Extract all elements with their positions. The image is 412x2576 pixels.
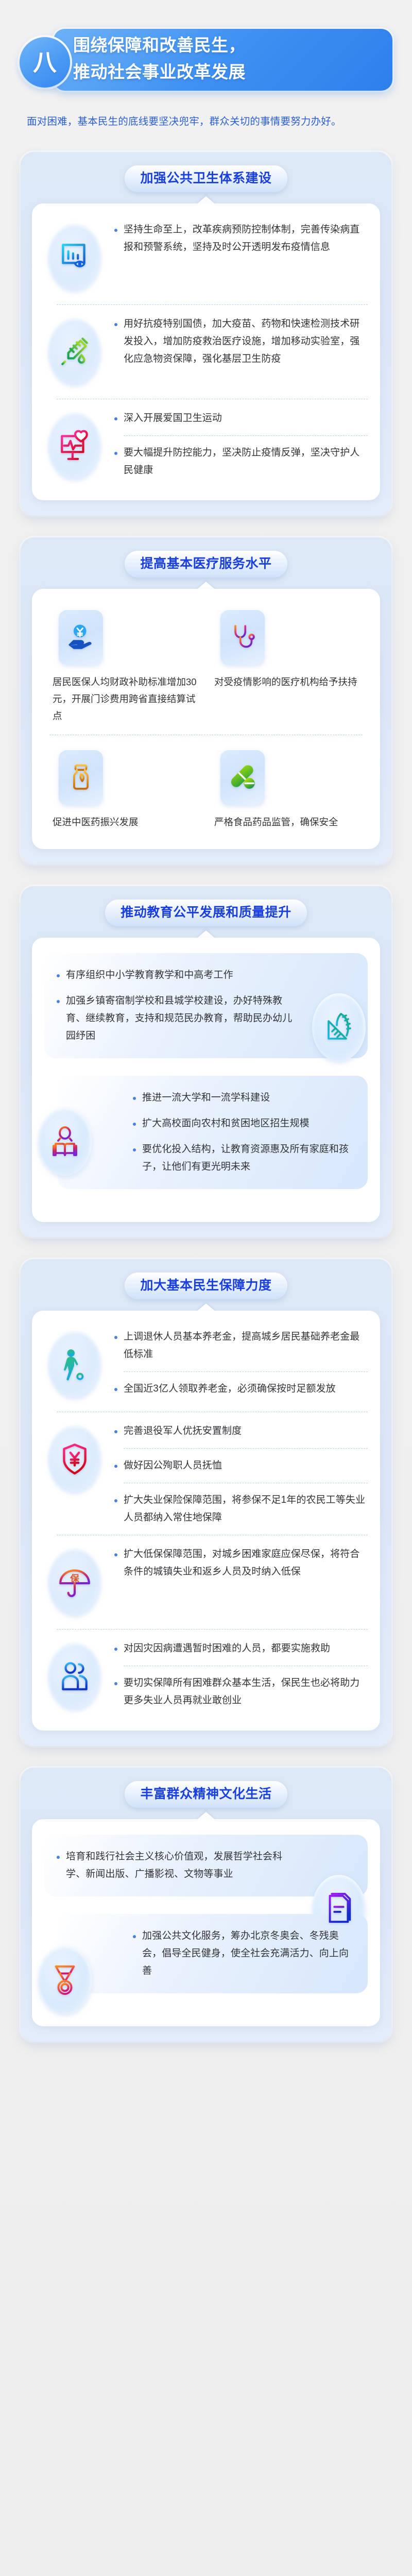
list-item: 对因灾因病遭遇暂时困难的人员，都要实施救助 要切实保障所有困难群众基本生活，保民… <box>44 1638 368 1715</box>
section-public-health: 加强公共卫生体系建设 <box>21 152 391 516</box>
dashed-divider <box>57 1629 368 1630</box>
bullet-text: 要切实保障所有困难群众基本生活，保民生也必将助力更多失业人员再就业敢创业 <box>111 1674 368 1709</box>
dashed-divider <box>124 435 368 436</box>
list-item: 坚持生命至上，改革疾病预防控制体制，完善传染病直报和预警系统，坚持及时公开透明发… <box>44 219 368 296</box>
education-panel: 有序组织中小学教育教学和中高考工作 加强乡镇寄宿制学校和县城学校建设，办好特殊教… <box>44 953 368 1058</box>
grid-cell: 严格食品药品监管，确保安全 <box>206 744 368 834</box>
graduate-book-icon <box>38 1108 92 1176</box>
bullet-text: 有序组织中小学教育教学和中高考工作 <box>54 967 301 984</box>
section-body-livelihood: 上调退休人员基本养老金，提高城乡居民基础养老金最低标准 全国近3亿人领取养老金，… <box>32 1311 380 1731</box>
syringe-vaccine-icon <box>44 313 105 391</box>
monitor-chart-eye-icon <box>44 219 105 296</box>
section-title-livelihood: 加大基本民生保障力度 <box>125 1273 287 1299</box>
dashed-divider <box>57 399 368 399</box>
dashed-divider <box>49 735 363 735</box>
bullet-text: 对因灾因病遭遇暂时困难的人员，都要实施救助 <box>111 1640 368 1657</box>
bullet-text: 推进一流大学和一流学科建设 <box>130 1089 354 1107</box>
grid-cell-text: 严格食品药品监管，确保安全 <box>211 814 338 831</box>
section-title-public-health: 加强公共卫生体系建设 <box>125 165 287 192</box>
medal-icon <box>38 1946 92 2014</box>
page-title: 围绕保障和改善民生， 推动社会事业改革发展 <box>73 32 382 86</box>
bullet-text: 要大幅提升防控能力，坚决防止疫情反弹，坚决守护人民健康 <box>111 444 368 479</box>
list-item: 用好抗疫特别国债，加大疫苗、药物和快速检测技术研发投入，增加防疫救治医疗设施，增… <box>44 313 368 391</box>
list-item: 完善退役军人优抚安置制度 做好因公殉职人员抚恤 扩大失业保险保障范围，将参保不足… <box>44 1420 368 1527</box>
culture-panel: 培育和践行社会主义核心价值观，发展哲学社会科学、新闻出版、广播影视、文物等事业 <box>44 1835 368 1896</box>
section-education: 推动教育公平发展和质量提升 有序组织中小学教育教学和中高考工作 加强乡镇寄宿制学… <box>21 886 391 1238</box>
page-title-line1: 围绕保障和改善民生， <box>73 32 382 59</box>
page-title-line2: 推动社会事业改革发展 <box>73 59 382 86</box>
grid-cell-text: 促进中医药振兴发展 <box>49 814 139 831</box>
bullet-text: 坚持生命至上，改革疾病预防控制体制，完善传染病直报和预警系统，坚持及时公开透明发… <box>111 221 368 256</box>
section-body-education: 有序组织中小学教育教学和中高考工作 加强乡镇寄宿制学校和县城学校建设，办好特殊教… <box>32 938 380 1222</box>
ruler-set-square-icon <box>312 993 366 1061</box>
hand-yuan-coin-icon <box>59 609 103 665</box>
grid-cell: 促进中医药振兴发展 <box>44 744 206 834</box>
bullet-text: 培育和践行社会主义核心价值观，发展哲学社会科学、新闻出版、广播影视、文物等事业 <box>54 1848 301 1883</box>
bullet-text: 扩大低保保障范围，对城乡困难家庭应保尽保，将符合条件的城镇失业和返乡人员及时纳入… <box>111 1546 368 1581</box>
pill-notch <box>32 1811 380 1819</box>
dashed-divider <box>57 1535 368 1535</box>
highlight-number: 30 <box>186 676 197 687</box>
bullet-text: 扩大失业保险保障范围，将参保不足1年的农民工等失业人员都纳入常住地保障 <box>111 1492 368 1527</box>
dashed-divider <box>124 1371 368 1372</box>
pill-notch <box>32 581 380 589</box>
dashed-divider <box>124 1666 368 1666</box>
pill-notch <box>32 195 380 204</box>
bullet-text: 上调退休人员基本养老金，提高城乡居民基础养老金最低标准 <box>111 1328 368 1363</box>
section-title-education: 推动教育公平发展和质量提升 <box>105 900 307 926</box>
grid-cell-text: 对受疫情影响的医疗机构给予扶持 <box>211 673 357 690</box>
shield-yuan-icon <box>44 1420 105 1498</box>
section-number-badge: 八 <box>20 37 70 88</box>
medicine-bottle-leaf-icon <box>59 750 103 805</box>
section-body-culture: 培育和践行社会主义核心价值观，发展哲学社会科学、新闻出版、广播影视、文物等事业 <box>32 1819 380 2026</box>
bullet-text: 加强公共文化服务，筹办北京冬奥会、冬残奥会，倡导全民健身，使全社会充满活力、向上… <box>130 1927 354 1980</box>
dashed-divider <box>57 1412 368 1412</box>
intro-paragraph: 面对困难，基本民生的底线要坚决兜牢，群众关切的事情要努力办好。 <box>27 113 385 130</box>
dashed-divider <box>124 1448 368 1449</box>
svg-text:保: 保 <box>70 1573 79 1584</box>
bullet-text: 加强乡镇寄宿制学校和县城学校建设，办好特殊教育、继续教育，支持和规范民办教育，帮… <box>54 992 301 1045</box>
dashed-divider <box>124 1483 368 1483</box>
infographic-page: 八 围绕保障和改善民生， 推动社会事业改革发展 面对困难，基本民生的底线要坚决兜… <box>0 0 412 2576</box>
section-culture: 丰富群众精神文化生活 培育和践行社会主义核心价值观，发展哲学社会科学、新闻出版、… <box>21 1768 391 2042</box>
bullet-text: 全国近3亿人领取养老金，必须确保按时足额发放 <box>111 1380 368 1398</box>
bullet-text: 完善退役军人优抚安置制度 <box>111 1422 368 1440</box>
section-body-public-health: 坚持生命至上，改革疾病预防控制体制，完善传染病直报和预警系统，坚持及时公开透明发… <box>32 204 380 500</box>
bullet-text: 要优化投入结构，让教育资源惠及所有家庭和孩子，让他们有更光明未来 <box>130 1141 354 1176</box>
grid-cell: 对受疫情影响的医疗机构给予扶持 <box>206 604 368 727</box>
list-item: 深入开展爱国卫生运动 要大幅提升防控能力，坚决防止疫情反弹，坚决守护人民健康 <box>44 408 368 485</box>
bullet-text: 用好抗疫特别国债，加大疫苗、药物和快速检测技术研发投入，增加防疫救治医疗设施，增… <box>111 315 368 368</box>
pill-notch <box>32 929 380 938</box>
page-header: 八 围绕保障和改善民生， 推动社会事业改革发展 <box>0 0 412 106</box>
bullet-text: 深入开展爱国卫生运动 <box>111 410 368 427</box>
capsule-pill-icon <box>220 750 265 805</box>
list-item: 上调退休人员基本养老金，提高城乡居民基础养老金最低标准 全国近3亿人领取养老金，… <box>44 1326 368 1403</box>
section-body-basic-medical: 居民医保人均财政补助标准增加30元，开展门诊费用跨省直接结算试点 <box>32 589 380 849</box>
heart-monitor-icon <box>44 408 105 485</box>
culture-panel: 加强公共文化服务，筹办北京冬奥会、冬残奥会，倡导全民健身，使全社会充满活力、向上… <box>58 1914 368 1993</box>
section-basic-medical: 提高基本医疗服务水平 居民医保人均财政补助标准增加30元，开展门诊费用跨省直接结… <box>21 537 391 865</box>
elderly-walker-icon <box>44 1326 105 1403</box>
section-number-text: 八 <box>33 50 57 74</box>
section-title-culture: 丰富群众精神文化生活 <box>125 1781 287 1808</box>
dashed-divider <box>57 304 368 305</box>
stethoscope-icon <box>220 609 265 665</box>
section-title-basic-medical: 提高基本医疗服务水平 <box>125 551 287 578</box>
bullet-text: 做好因公殉职人员抚恤 <box>111 1457 368 1475</box>
grid-cell: 居民医保人均财政补助标准增加30元，开展门诊费用跨省直接结算试点 <box>44 604 206 727</box>
umbrella-bao-icon: 保 <box>44 1544 105 1621</box>
grid-cell-text: 居民医保人均财政补助标准增加30元，开展门诊费用跨省直接结算试点 <box>49 673 199 724</box>
two-people-icon <box>44 1638 105 1715</box>
pill-notch <box>32 1302 380 1311</box>
section-livelihood: 加大基本民生保障力度 <box>21 1259 391 1746</box>
bullet-text: 扩大高校面向农村和贫困地区招生规模 <box>130 1115 354 1132</box>
list-item: 保 扩大低保保障范围，对城乡困难家庭应保尽保，将符合条件的城镇失业和返乡人员及时… <box>44 1544 368 1621</box>
education-panel: 推进一流大学和一流学科建设 扩大高校面向农村和贫困地区招生规模 要优化投入结构，… <box>58 1076 368 1189</box>
